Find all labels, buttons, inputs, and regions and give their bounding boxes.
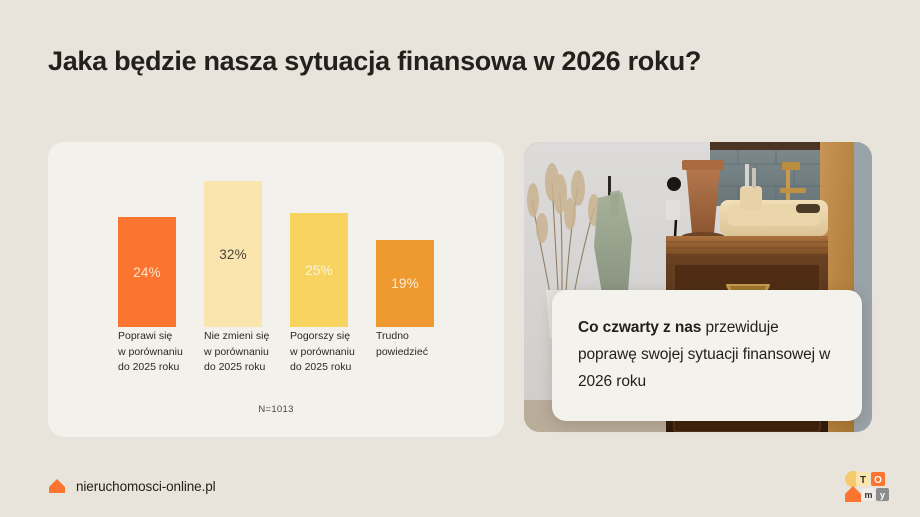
page-title: Jaka będzie nasza sytuacja finansowa w 2…	[48, 46, 701, 77]
bar-series: 24% 32% 25% 19%	[118, 167, 478, 327]
bar-column: 19%	[376, 240, 434, 327]
bar-column: 25%	[290, 213, 348, 327]
bar-label-line: do 2025 roku	[290, 360, 348, 376]
bar-label-line: Nie zmieni się	[204, 329, 262, 345]
bar-nie-zmieni-sie: 32%	[204, 181, 262, 327]
svg-text:m: m	[864, 490, 872, 500]
bar-category-labels: Poprawi się w porównaniu do 2025 roku Ni…	[118, 329, 490, 395]
infographic-slide: Jaka będzie nasza sytuacja finansowa w 2…	[0, 0, 920, 517]
bar-label: Pogorszy się w porównaniu do 2025 roku	[290, 329, 348, 395]
footer-brand[interactable]: nieruchomosci-online.pl	[48, 478, 216, 494]
callout-bold-lead: Co czwarty z nas	[578, 319, 701, 336]
bar-label-line: w porównaniu	[204, 345, 262, 361]
bar-label-line: powiedzieć	[376, 345, 434, 361]
bar-value-label: 24%	[133, 265, 161, 280]
svg-text:O: O	[874, 475, 882, 486]
chart-card: 24% 32% 25% 19%	[48, 142, 504, 437]
callout-text: Co czwarty z nas przewiduje poprawę swoj…	[578, 314, 836, 395]
bar-label-line: Pogorszy się	[290, 329, 348, 345]
bar-label-line: do 2025 roku	[204, 360, 262, 376]
bar-pogorszy-sie: 25%	[290, 213, 348, 327]
bar-label-line: do 2025 roku	[118, 360, 176, 376]
callout-box: Co czwarty z nas przewiduje poprawę swoj…	[552, 290, 862, 421]
bar-column: 24%	[118, 217, 176, 327]
bar-value-label: 19%	[391, 276, 419, 291]
bar-label-line: Poprawi się	[118, 329, 176, 345]
bar-label: Nie zmieni się w porównaniu do 2025 roku	[204, 329, 262, 395]
bar-label-line: Trudno	[376, 329, 434, 345]
bar-label-line: w porównaniu	[290, 345, 348, 361]
tomy-logo-mark: T O m y	[842, 470, 894, 504]
sample-size-note: N=1013	[48, 404, 504, 415]
bar-column: 32%	[204, 181, 262, 327]
tomy-logo: T O m y	[842, 470, 894, 504]
bar-trudno-powiedziec: 19%	[376, 240, 434, 327]
bar-poprawi-sie: 24%	[118, 217, 176, 327]
bar-value-label: 32%	[219, 247, 247, 262]
svg-text:T: T	[860, 475, 866, 486]
house-icon	[48, 478, 66, 494]
bar-chart: 24% 32% 25% 19%	[48, 142, 504, 437]
bar-value-label: 25%	[305, 263, 333, 278]
bar-label: Trudno powiedzieć	[376, 329, 434, 395]
brand-name: nieruchomosci-online.pl	[76, 479, 216, 494]
bar-label: Poprawi się w porównaniu do 2025 roku	[118, 329, 176, 395]
svg-text:y: y	[880, 490, 885, 500]
bar-label-line: w porównaniu	[118, 345, 176, 361]
